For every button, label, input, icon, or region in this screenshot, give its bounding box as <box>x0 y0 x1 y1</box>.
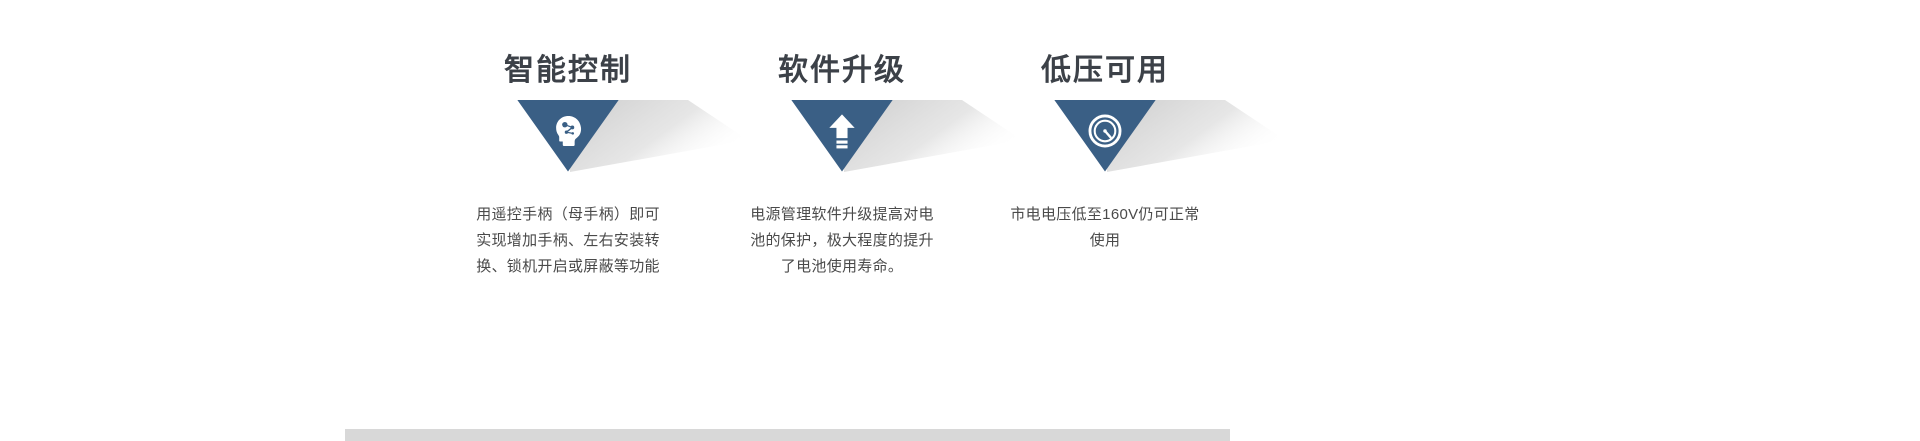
feature-card-smart-control: 智能控制 <box>418 52 718 280</box>
gauge-meter-icon <box>1086 112 1124 150</box>
feature-title: 低压可用 <box>955 52 1255 90</box>
feature-title: 智能控制 <box>418 52 718 90</box>
upload-arrow-icon <box>823 112 861 150</box>
bottom-divider-bar <box>345 429 1230 441</box>
feature-badge <box>692 100 992 178</box>
feature-card-software-upgrade: 软件升级 <box>692 52 992 280</box>
feature-highlights-section: 智能控制 <box>0 0 1920 441</box>
features-row: 智能控制 <box>0 0 1920 400</box>
feature-card-low-voltage: 低压可用 <box>955 52 1255 254</box>
feature-description: 电源管理软件升级提高对电池的保护，极大程度的提升了电池使用寿命。 <box>747 202 937 280</box>
badge-shadow <box>1105 100 1315 290</box>
feature-badge <box>955 100 1255 178</box>
feature-description: 市电电压低至160V仍可正常使用 <box>1010 202 1200 254</box>
head-brain-icon <box>549 112 587 150</box>
feature-description: 用遥控手柄（母手柄）即可实现增加手柄、左右安装转换、锁机开启或屏蔽等功能 <box>473 202 663 280</box>
feature-badge <box>418 100 718 178</box>
feature-title: 软件升级 <box>692 52 992 90</box>
